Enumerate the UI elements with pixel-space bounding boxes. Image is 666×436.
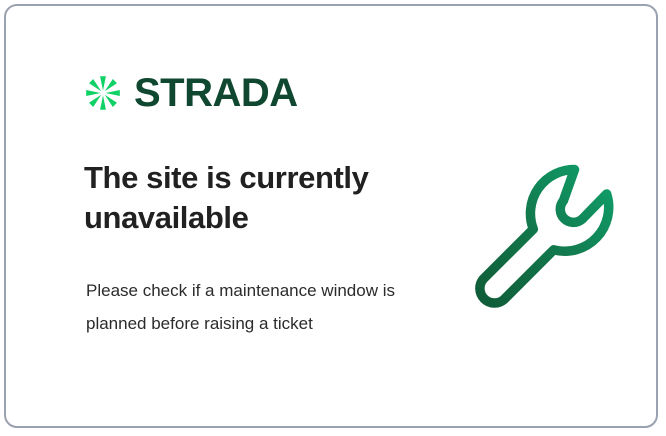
page-description: Please check if a maintenance window is … [86, 274, 396, 340]
error-page-screen: STRADA The site is currently unavailable… [0, 0, 666, 436]
message-card: STRADA The site is currently unavailable… [4, 4, 658, 428]
page-title: The site is currently unavailable [84, 158, 414, 238]
strada-asterisk-icon [82, 72, 124, 114]
brand-wordmark: STRADA [134, 73, 298, 113]
brand-logo: STRADA [82, 72, 298, 114]
wrench-icon [458, 156, 618, 316]
